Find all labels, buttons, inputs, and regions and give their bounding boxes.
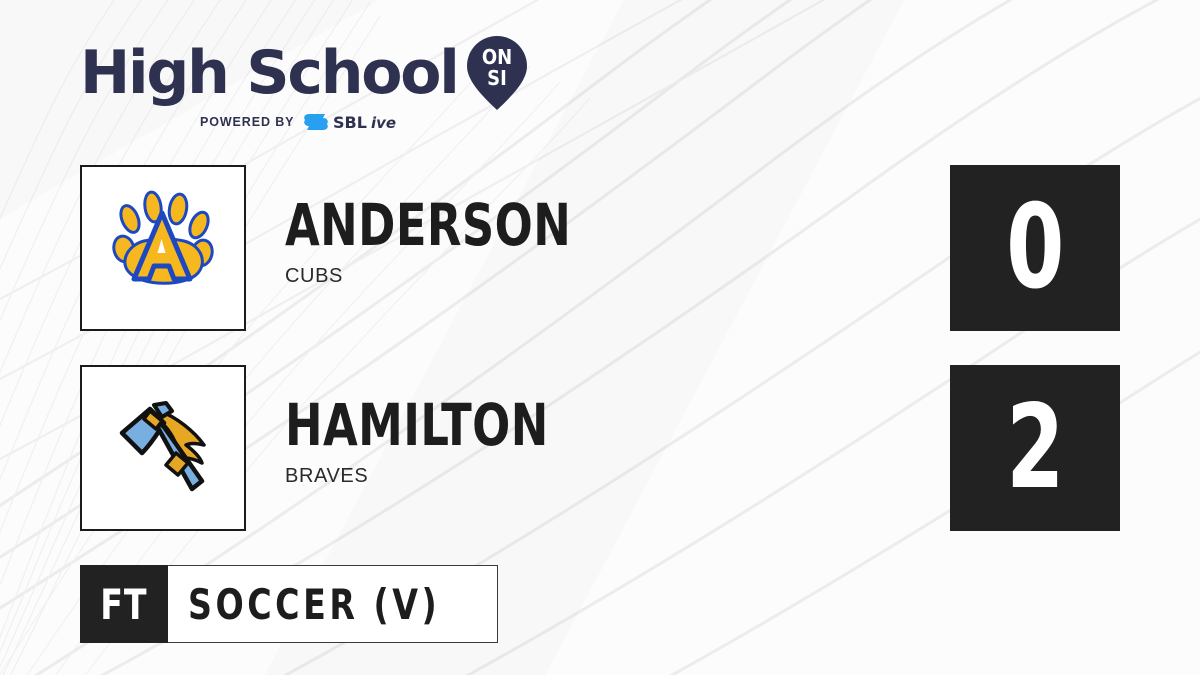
sport-panel: SOCCER (V) <box>168 565 498 643</box>
brand-title: High School <box>80 42 458 104</box>
game-status-bar: FT SOCCER (V) <box>80 565 498 643</box>
team-name: HAMILTON <box>285 395 549 455</box>
sport-label: SOCCER (V) <box>188 580 440 629</box>
team-mascot: BRAVES <box>285 465 592 488</box>
team-logo-box <box>80 365 246 531</box>
team-score-box: 2 <box>950 365 1120 531</box>
team-row: HAMILTON BRAVES 2 <box>80 365 1120 535</box>
game-period-label: FT <box>100 580 147 629</box>
tomahawk-logo-icon <box>98 383 228 513</box>
team-logo-box <box>80 165 246 331</box>
sblive-logo: SBL ive <box>303 112 407 132</box>
brand-header: High School ON SI POWERED BY SBL ive <box>80 36 640 136</box>
team-score: 2 <box>1006 390 1064 506</box>
powered-by-row: POWERED BY SBL ive <box>200 112 640 132</box>
team-score-box: 0 <box>950 165 1120 331</box>
team-name: ANDERSON <box>285 195 571 255</box>
team-score: 0 <box>1006 190 1064 306</box>
powered-by-label: POWERED BY <box>200 115 294 129</box>
scoreboard-graphic: High School ON SI POWERED BY SBL ive <box>0 0 1200 675</box>
team-info: ANDERSON CUBS <box>285 195 618 288</box>
pin-badge-line2: SI <box>487 66 507 90</box>
team-info: HAMILTON BRAVES <box>285 395 592 488</box>
brand-logo-row: High School ON SI <box>80 36 640 110</box>
sblive-text-part1: SBL <box>333 113 367 132</box>
sblive-text-part2: ive <box>371 114 396 132</box>
on-si-pin-icon: ON SI <box>466 34 528 112</box>
team-mascot: CUBS <box>285 265 618 288</box>
bear-paw-letter-a-logo-icon <box>98 183 228 313</box>
game-period-badge: FT <box>80 565 168 643</box>
team-row: ANDERSON CUBS 0 <box>80 165 1120 335</box>
